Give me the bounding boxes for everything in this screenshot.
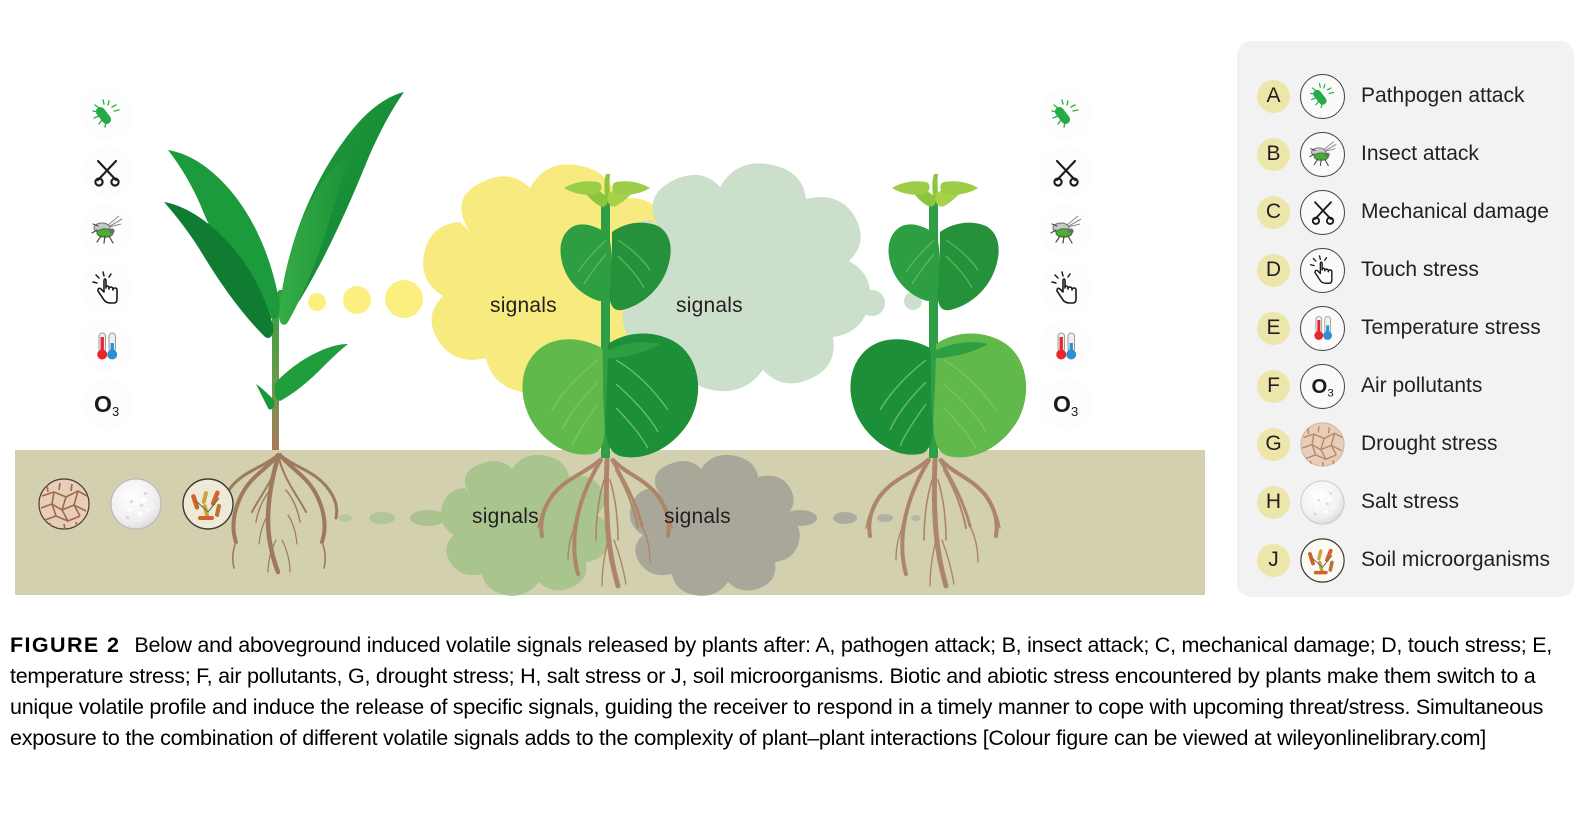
svg-text:3: 3 <box>112 404 119 419</box>
legend-row-e: E Temperature stress <box>1237 299 1574 357</box>
signal-dots-above-left <box>308 280 423 318</box>
signal-label-below-left: signals <box>472 505 539 529</box>
legend-row-a: A Pathpogen attack <box>1237 67 1574 125</box>
bacterium-icon <box>81 88 133 140</box>
legend-key-b: B <box>1257 138 1290 171</box>
touch-hand-icon <box>81 262 133 314</box>
scissors-icon <box>1040 146 1092 198</box>
soil-icon-row <box>38 478 234 530</box>
insect-icon <box>1300 132 1345 177</box>
legend-row-g: G Drought stress <box>1237 415 1574 473</box>
salt-crystals-icon <box>110 478 162 530</box>
legend-label-f: Air pollutants <box>1361 374 1482 398</box>
legend-row-c: C Mechanical damage <box>1237 183 1574 241</box>
svg-text:O: O <box>1053 391 1071 417</box>
soil-microorganisms-icon <box>1300 538 1345 583</box>
svg-text:O: O <box>94 391 112 417</box>
ozone-icon: O 3 <box>1040 378 1092 430</box>
figure-label: FIGURE 2 <box>10 633 120 657</box>
legend-key-a: A <box>1257 80 1290 113</box>
scissors-icon <box>1300 190 1345 235</box>
ozone-icon: O 3 <box>81 378 133 430</box>
svg-text:O: O <box>1311 376 1327 398</box>
legend-label-c: Mechanical damage <box>1361 200 1549 224</box>
legend-key-e: E <box>1257 312 1290 345</box>
thermometer-icon <box>1300 306 1345 351</box>
legend-row-f: F O 3 Air pollutants <box>1237 357 1574 415</box>
plant-bean-right <box>850 174 1026 586</box>
figure-caption: FIGURE 2Below and aboveground induced vo… <box>10 630 1576 754</box>
thermometer-icon <box>81 320 133 372</box>
bacterium-icon <box>1300 74 1345 119</box>
stress-icon-column-left: O 3 <box>81 88 137 436</box>
stress-icon-column-right: O 3 <box>1040 88 1096 436</box>
touch-hand-icon <box>1300 248 1345 293</box>
signal-dots-below-left <box>338 510 446 526</box>
legend-key-c: C <box>1257 196 1290 229</box>
legend-row-h: H <box>1237 473 1574 531</box>
soil-microorganisms-icon <box>182 478 234 530</box>
legend-key-g: G <box>1257 428 1290 461</box>
legend-label-j: Soil microorganisms <box>1361 548 1550 572</box>
signal-label-above-left: signals <box>490 294 557 318</box>
figure-image: signals signals signals signals <box>0 0 1586 620</box>
bacterium-icon <box>1040 88 1092 140</box>
legend-label-g: Drought stress <box>1361 432 1498 456</box>
thermometer-icon <box>1040 320 1092 372</box>
legend-panel: A Pathpogen attack B <box>1237 41 1574 597</box>
legend-key-d: D <box>1257 254 1290 287</box>
legend-row-j: J Soil microorga <box>1237 531 1574 589</box>
legend-key-j: J <box>1257 544 1290 577</box>
svg-text:3: 3 <box>1327 388 1333 400</box>
legend-label-h: Salt stress <box>1361 490 1459 514</box>
insect-icon <box>1040 204 1092 256</box>
signal-dots-below-right <box>783 510 921 526</box>
legend-row-b: B Insect attack <box>1237 125 1574 183</box>
legend-label-a: Pathpogen attack <box>1361 84 1524 108</box>
insect-icon <box>81 204 133 256</box>
legend-row-d: D Touch stress <box>1237 241 1574 299</box>
signal-label-below-right: signals <box>664 505 731 529</box>
svg-text:3: 3 <box>1071 404 1078 419</box>
legend-label-b: Insect attack <box>1361 142 1479 166</box>
cracked-soil-icon <box>1300 422 1345 467</box>
legend-label-d: Touch stress <box>1361 258 1479 282</box>
scissors-icon <box>81 146 133 198</box>
touch-hand-icon <box>1040 262 1092 314</box>
diagram-panel: signals signals signals signals <box>0 0 1215 620</box>
legend-key-f: F <box>1257 370 1290 403</box>
salt-crystals-icon <box>1300 480 1345 525</box>
legend-key-h: H <box>1257 486 1290 519</box>
legend-label-e: Temperature stress <box>1361 316 1541 340</box>
cracked-soil-icon <box>38 478 90 530</box>
ozone-icon: O 3 <box>1300 364 1345 409</box>
signal-label-above-right: signals <box>676 294 743 318</box>
figure-caption-text: Below and aboveground induced volatile s… <box>10 633 1552 750</box>
